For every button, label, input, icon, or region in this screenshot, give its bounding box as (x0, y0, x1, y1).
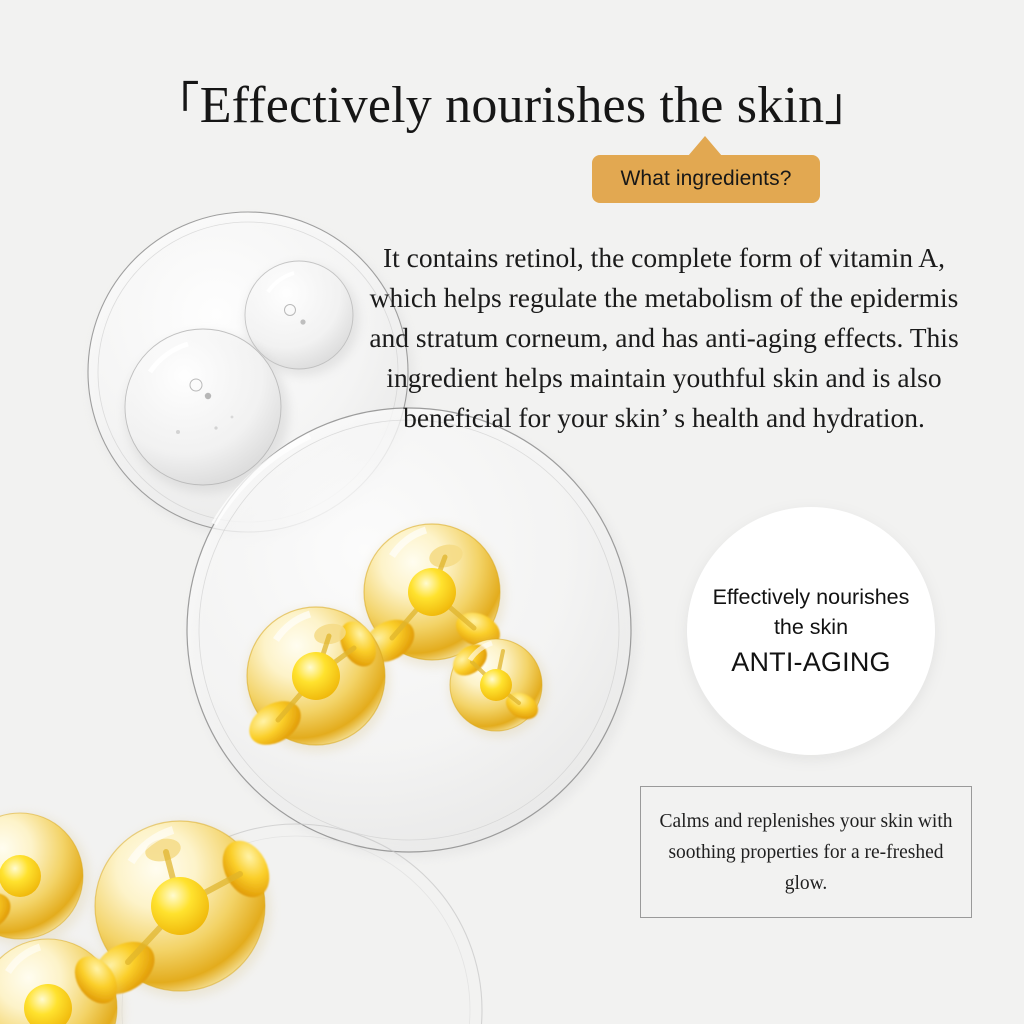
ingredient-description: It contains retinol, the complete form o… (368, 238, 960, 438)
benefit-caption-text: Calms and replenishes your skin with soo… (658, 806, 954, 899)
open-bracket-glyph: 「 (154, 79, 200, 130)
product-infographic: 「Effectively nourishes the skin」 What in… (0, 0, 1024, 1024)
capsule-cluster-center (241, 524, 547, 754)
circle-badge-line-1: Effectively nourishes (713, 582, 910, 612)
capsule (241, 607, 390, 754)
ingredients-badge[interactable]: What ingredients? (592, 155, 820, 203)
circle-badge-headline: ANTI-AGING (731, 644, 891, 680)
petri-dish-lower (187, 408, 638, 858)
circle-badge-line-2: the skin (774, 612, 848, 642)
title-text: Effectively nourishes the skin (200, 77, 825, 134)
serum-droplet-small (245, 261, 359, 376)
capsule (447, 638, 547, 737)
benefit-caption-box: Calms and replenishes your skin with soo… (640, 786, 972, 918)
capsule (84, 821, 279, 1005)
ingredients-badge-label: What ingredients? (621, 167, 792, 191)
capsule (356, 524, 505, 671)
capsule (0, 813, 90, 946)
close-bracket-glyph: 」 (824, 79, 870, 130)
serum-droplet-large (125, 329, 289, 493)
anti-aging-circle-badge: Effectively nourishes the skin ANTI-AGIN… (687, 507, 935, 755)
capsule (0, 939, 126, 1024)
page-title: 「Effectively nourishes the skin」 (0, 74, 1024, 137)
capsule-cluster-bottom-left (0, 813, 482, 1024)
petri-dish-upper (88, 212, 414, 538)
badge-pointer-triangle (688, 136, 722, 156)
